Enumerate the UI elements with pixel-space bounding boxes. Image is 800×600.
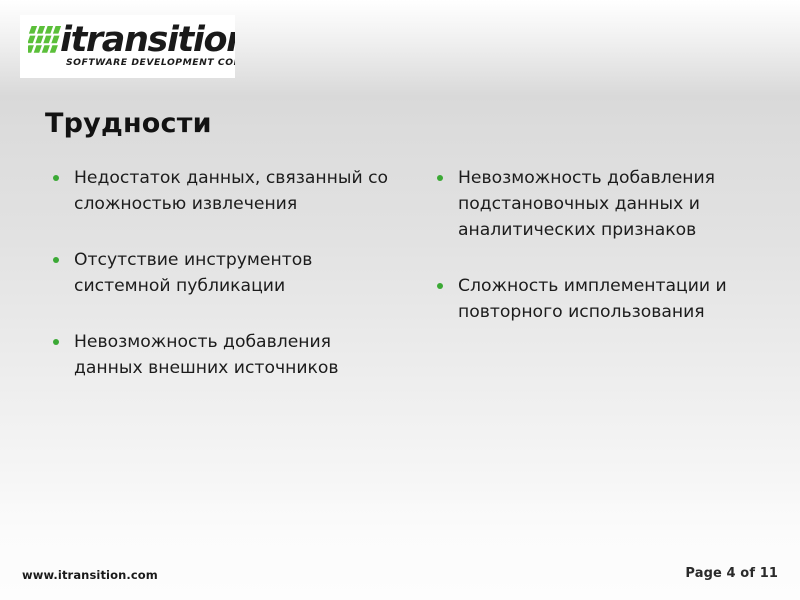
list-item: Сложность имплементации и повторного исп… [430, 273, 782, 325]
list-item-text: Сложность имплементации и повторного исп… [458, 273, 782, 325]
company-logo: itransition SOFTWARE DEVELOPMENT COMPANY [20, 15, 235, 78]
bullet-dot-icon [437, 175, 443, 181]
logo-wordmark: itransition [60, 20, 235, 60]
logo-inner: itransition SOFTWARE DEVELOPMENT COMPANY [28, 24, 228, 72]
footer-website-url: www.itransition.com [22, 568, 158, 582]
bullet-dot-icon [53, 175, 59, 181]
list-item-text: Недостаток данных, связанный со сложност… [74, 165, 398, 217]
footer-page-number: Page 4 of 11 [685, 566, 778, 581]
presentation-slide: itransition SOFTWARE DEVELOPMENT COMPANY… [0, 0, 800, 600]
slide-title: Трудности [45, 108, 212, 139]
logo-tagline: SOFTWARE DEVELOPMENT COMPANY [66, 57, 235, 68]
content-column-right: Невозможность добавления подстановочных … [430, 165, 782, 355]
list-item-text: Невозможность добавления данных внешних … [74, 329, 398, 381]
logo-dots-icon [28, 26, 64, 54]
list-item-text: Отсутствие инструментов системной публик… [74, 247, 398, 299]
bullet-dot-icon [437, 283, 443, 289]
list-item: Отсутствие инструментов системной публик… [46, 247, 398, 299]
list-item: Невозможность добавления подстановочных … [430, 165, 782, 243]
list-item-text: Невозможность добавления подстановочных … [458, 165, 782, 243]
list-item: Невозможность добавления данных внешних … [46, 329, 398, 381]
content-column-left: Недостаток данных, связанный со сложност… [46, 165, 398, 411]
bullet-dot-icon [53, 257, 59, 263]
bullet-dot-icon [53, 339, 59, 345]
list-item: Недостаток данных, связанный со сложност… [46, 165, 398, 217]
